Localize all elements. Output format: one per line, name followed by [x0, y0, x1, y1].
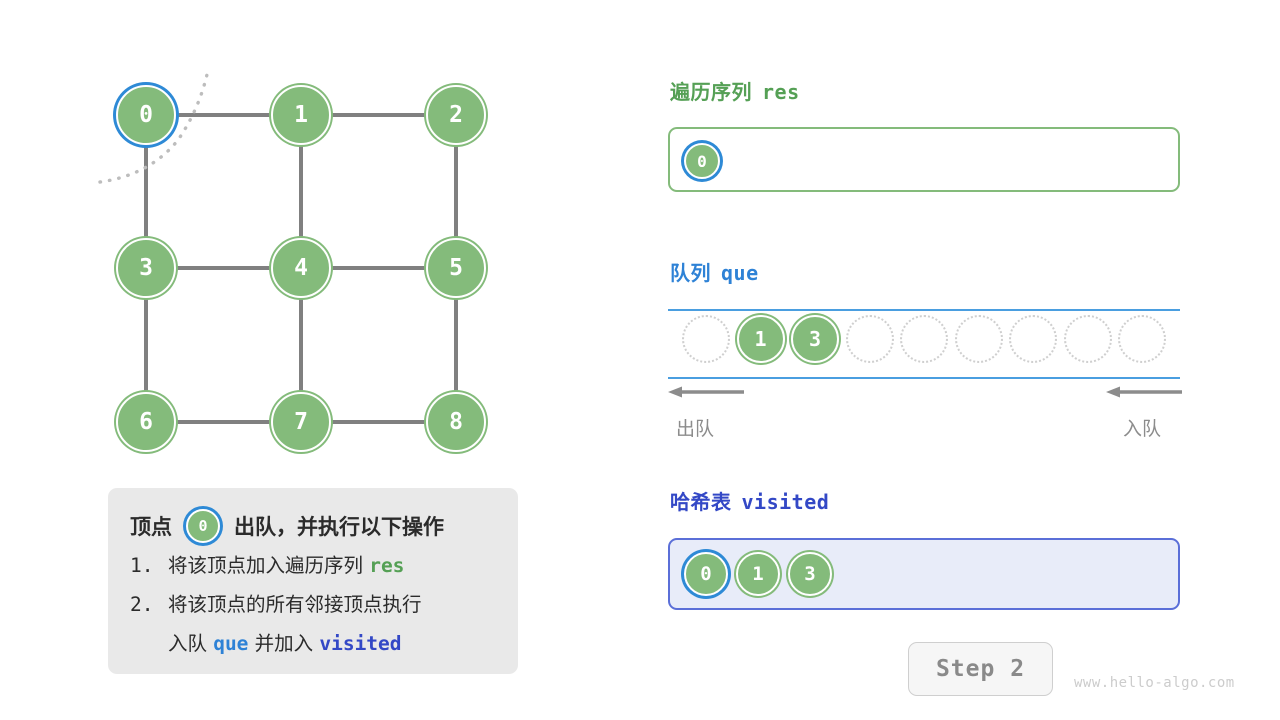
graph-vertex-5: 5: [426, 238, 486, 298]
visited-item-1: 1: [736, 552, 780, 596]
queue-slot-filled-3: 3: [791, 315, 839, 363]
graph-vertex-3: 3: [116, 238, 176, 298]
caption-line-text: 将该顶点的所有邻接顶点执行: [168, 585, 422, 624]
visited-item-0: 0: [684, 552, 728, 596]
step-description-box: 顶点 0 出队，并执行以下操作 1.将该顶点加入遍历序列 res2.将该顶点的所…: [108, 488, 518, 674]
caption-line: 2.将该顶点的所有邻接顶点执行: [130, 585, 496, 624]
caption-keyword: res: [369, 554, 404, 577]
caption-line: 入队 que 并加入 visited: [130, 624, 496, 663]
visited-title-code: visited: [742, 490, 830, 514]
graph-vertex-6: 6: [116, 392, 176, 452]
caption-vertex-node: 0: [186, 509, 220, 543]
res-section-title: 遍历序列res: [670, 76, 800, 105]
queue-slot-empty-7: [1064, 315, 1112, 363]
graph-vertex-4: 4: [271, 238, 331, 298]
enqueue-label: 入队: [1123, 414, 1161, 441]
visited-section-title: 哈希表visited: [670, 486, 829, 515]
queue-top-rail: [668, 309, 1180, 311]
queue-slot-empty-3: [846, 315, 894, 363]
caption-head-suffix: 出队，并执行以下操作: [234, 511, 444, 541]
visited-title-cn: 哈希表: [670, 490, 732, 514]
step-badge: Step 2: [908, 642, 1053, 696]
res-title-code: res: [762, 80, 800, 104]
graph-vertex-8: 8: [426, 392, 486, 452]
queue-slot-filled-1: 1: [737, 315, 785, 363]
caption-line-text: 入队 que 并加入 visited: [168, 624, 402, 663]
visited-container: 013: [668, 538, 1180, 610]
res-container: 0: [668, 127, 1180, 192]
caption-line-text: 将该顶点加入遍历序列 res: [168, 546, 404, 585]
caption-line-number: 1.: [130, 546, 168, 585]
caption-vertex-chip: 0: [186, 509, 220, 543]
caption-text: 并加入: [248, 632, 319, 655]
caption-keyword: visited: [319, 632, 401, 655]
caption-line-number: 2.: [130, 585, 168, 624]
caption-head-prefix: 顶点: [130, 511, 172, 541]
queue-slot-empty-8: [1118, 315, 1166, 363]
graph-vertex-0: 0: [116, 85, 176, 145]
queue-slots: 13: [668, 315, 1180, 371]
dequeue-label: 出队: [676, 414, 714, 441]
graph-panel: 012345678: [0, 0, 600, 470]
enqueue-arrow-icon: [1106, 385, 1182, 399]
queue-section-title: 队列que: [670, 257, 759, 286]
queue-bottom-rail: [668, 377, 1180, 379]
visited-items: 013: [684, 548, 832, 600]
visited-item-3: 3: [788, 552, 832, 596]
res-item-0: 0: [684, 143, 720, 179]
caption-keyword: que: [213, 632, 248, 655]
dequeue-arrow-icon: [668, 385, 744, 399]
queue-slot-empty-5: [955, 315, 1003, 363]
caption-lines: 1.将该顶点加入遍历序列 res2.将该顶点的所有邻接顶点执行入队 que 并加…: [130, 546, 496, 663]
graph-vertex-2: 2: [426, 85, 486, 145]
illustration-canvas: 012345678 遍历序列res 0 队列que 13 出队 入队 哈希表vi…: [0, 0, 1280, 720]
queue-title-cn: 队列: [670, 261, 711, 285]
site-watermark: www.hello-algo.com: [1074, 675, 1235, 691]
queue-slot-empty-4: [900, 315, 948, 363]
caption-text: 将该顶点加入遍历序列: [168, 554, 369, 577]
graph-vertex-1: 1: [271, 85, 331, 145]
queue-title-code: que: [721, 261, 759, 285]
caption-vertex-0: 0: [186, 509, 220, 543]
res-title-cn: 遍历序列: [670, 80, 752, 104]
queue-slot-empty-6: [1009, 315, 1057, 363]
caption-line: 1.将该顶点加入遍历序列 res: [130, 546, 496, 585]
step-badge-label: Step 2: [936, 656, 1025, 682]
caption-text: 将该顶点的所有邻接顶点执行: [168, 593, 422, 616]
caption-text: 入队: [168, 632, 213, 655]
caption-line-number: [130, 624, 168, 663]
queue-slot-empty-0: [682, 315, 730, 363]
res-items: 0: [684, 136, 720, 186]
caption-heading: 顶点 0 出队，并执行以下操作: [130, 506, 496, 546]
graph-vertex-7: 7: [271, 392, 331, 452]
